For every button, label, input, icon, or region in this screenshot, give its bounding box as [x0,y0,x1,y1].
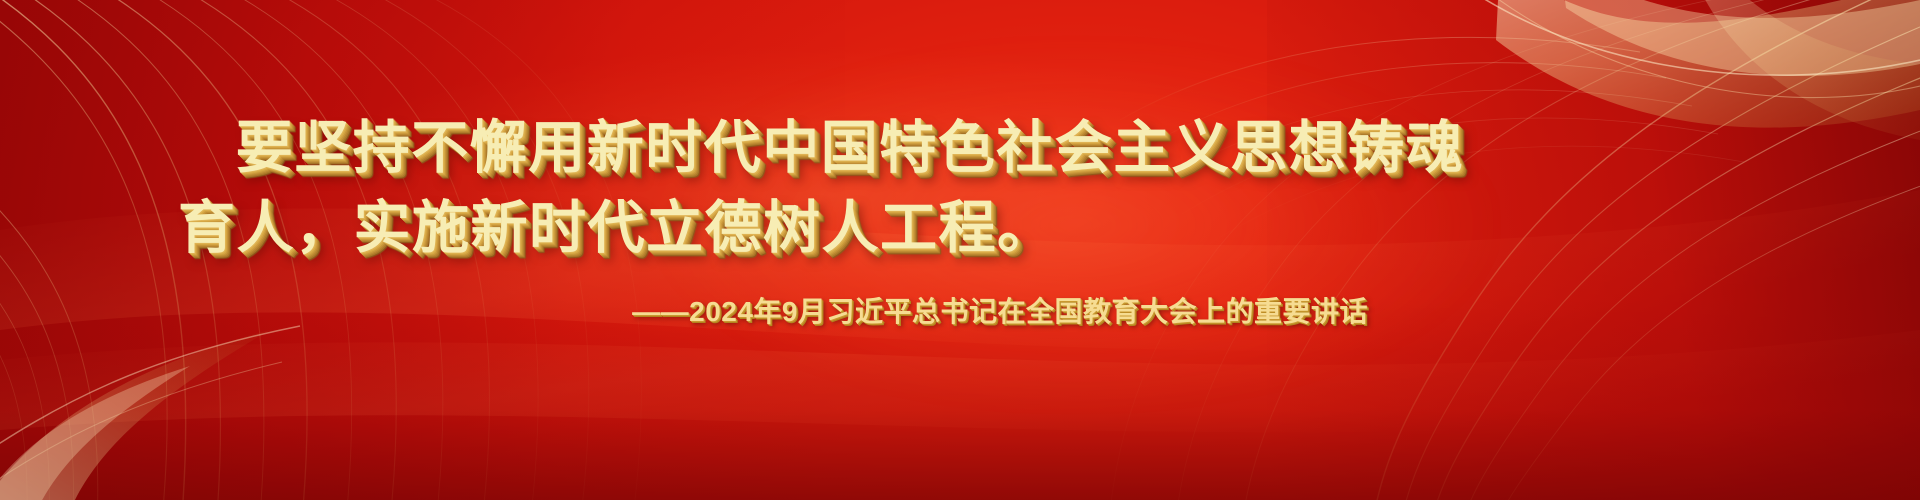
headline-line-1: 要坚持不懈用新时代中国特色社会主义思想铸魂 [0,108,1700,188]
headline: 要坚持不懈用新时代中国特色社会主义思想铸魂 育人，实施新时代立德树人工程。 [0,108,1700,268]
slogan-banner: 要坚持不懈用新时代中国特色社会主义思想铸魂 育人，实施新时代立德树人工程。 ——… [0,0,1920,500]
attribution-text: ——2024年9月习近平总书记在全国教育大会上的重要讲话 [0,290,1368,330]
headline-line-2: 育人，实施新时代立德树人工程。 [0,188,1700,268]
banner-content: 要坚持不懈用新时代中国特色社会主义思想铸魂 育人，实施新时代立德树人工程。 ——… [0,0,1920,500]
